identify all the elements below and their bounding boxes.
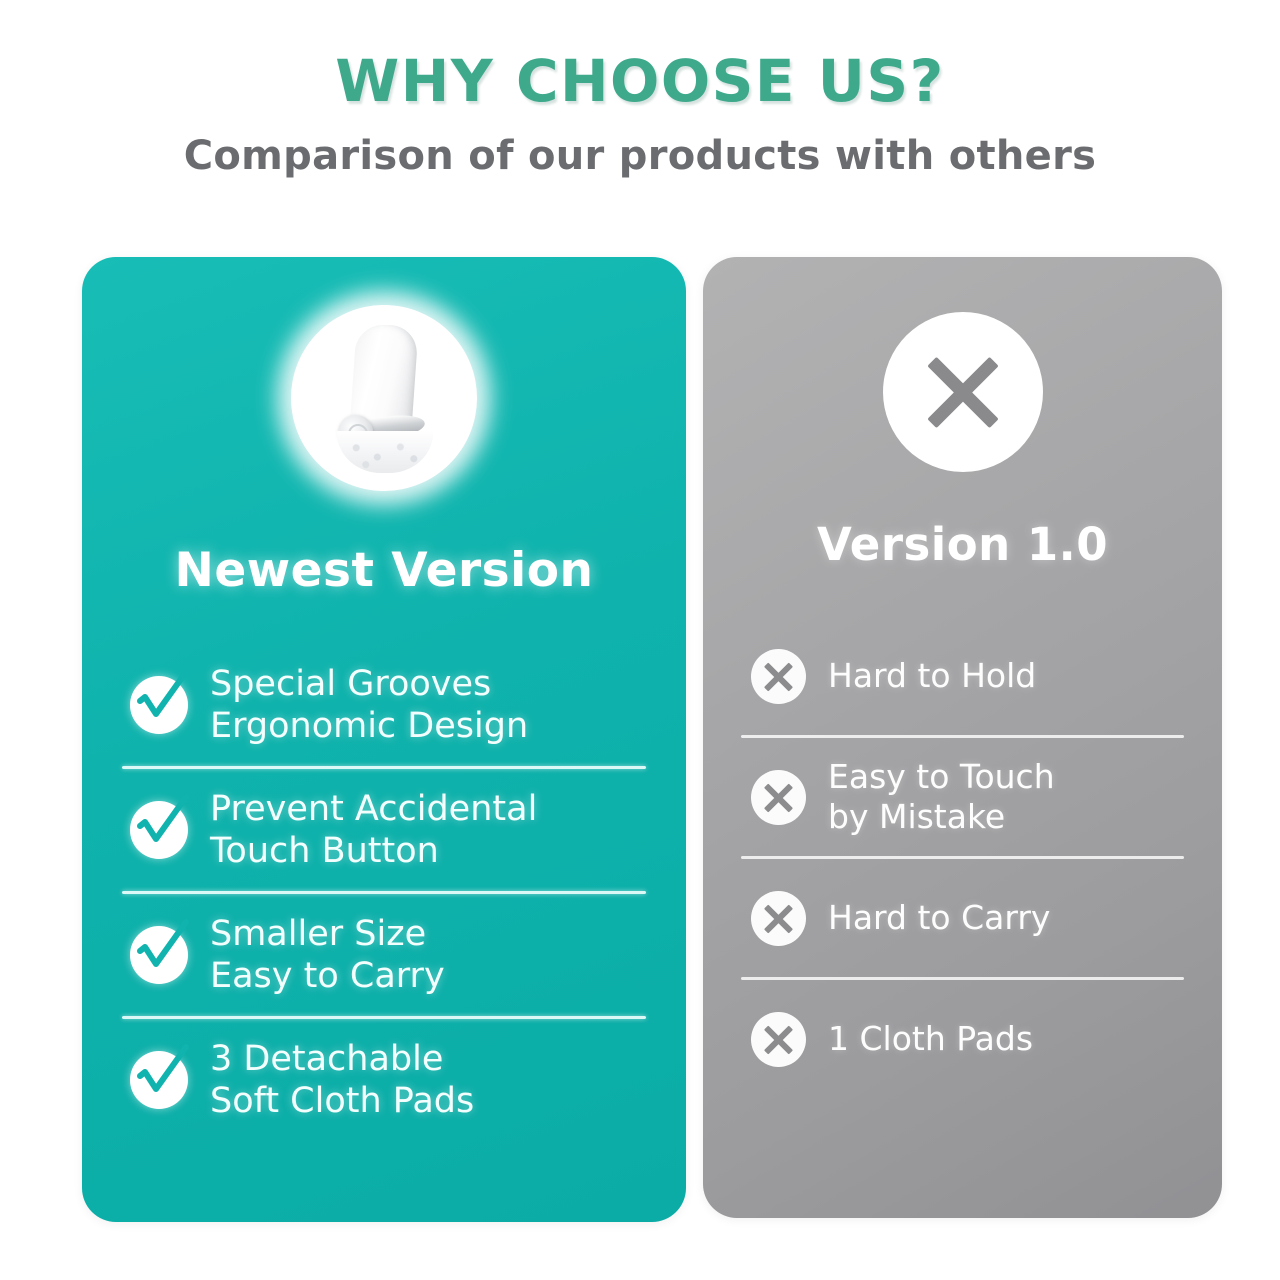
feature-text: Easy to Touch by Mistake — [828, 757, 1055, 836]
old-card-heading: Version 1.0 — [703, 522, 1222, 567]
feature-text: Hard to Hold — [828, 656, 1036, 696]
feature-text: Hard to Carry — [828, 898, 1050, 938]
feature-line-1: Hard to Carry — [828, 898, 1050, 937]
check-icon — [130, 926, 188, 984]
feature-line-2: Easy to Carry — [210, 955, 445, 997]
device-cloth-pad — [337, 431, 433, 473]
list-item: Easy to Touch by Mistake — [737, 738, 1188, 856]
page-title: WHY CHOOSE US? — [0, 52, 1280, 110]
feature-text: Special Grooves Ergonomic Design — [210, 663, 528, 747]
feature-line-1: Smaller Size — [210, 914, 426, 954]
list-item: Smaller Size Easy to Carry — [120, 894, 648, 1016]
header: WHY CHOOSE US? Comparison of our product… — [0, 0, 1280, 176]
feature-line-1: Hard to Hold — [828, 656, 1036, 695]
list-item: Hard to Carry — [737, 859, 1188, 977]
product-image-circle — [291, 305, 477, 491]
feature-text: 3 Detachable Soft Cloth Pads — [210, 1038, 474, 1122]
x-circle-icon — [883, 312, 1043, 472]
list-item: Special Grooves Ergonomic Design — [120, 644, 648, 766]
feature-text: Smaller Size Easy to Carry — [210, 913, 445, 997]
feature-line-2: by Mistake — [828, 797, 1055, 837]
check-icon — [130, 676, 188, 734]
x-icon — [751, 770, 806, 825]
check-icon — [130, 1051, 188, 1109]
feature-line-1: 3 Detachable — [210, 1039, 443, 1079]
comparison-infographic: WHY CHOOSE US? Comparison of our product… — [0, 0, 1280, 1280]
x-mark — [919, 348, 1007, 436]
x-icon — [751, 649, 806, 704]
comparison-cards: Newest Version Special Grooves Ergonomic… — [0, 257, 1280, 1237]
feature-line-1: Prevent Accidental — [210, 789, 537, 829]
list-item: Hard to Hold — [737, 617, 1188, 735]
check-icon — [130, 801, 188, 859]
x-icon — [751, 1012, 806, 1067]
product-device-photo — [329, 323, 439, 473]
x-icon — [751, 891, 806, 946]
old-card-media — [703, 257, 1222, 472]
new-card-heading: Newest Version — [82, 547, 686, 594]
new-card-media — [82, 257, 686, 491]
page-subtitle: Comparison of our products with others — [0, 136, 1280, 176]
old-card-feature-list: Hard to Hold Easy to Touch by Mistake — [703, 617, 1222, 1098]
list-item: 3 Detachable Soft Cloth Pads — [120, 1019, 648, 1141]
feature-text: 1 Cloth Pads — [828, 1019, 1033, 1059]
card-newest-version: Newest Version Special Grooves Ergonomic… — [82, 257, 686, 1222]
feature-line-1: Easy to Touch — [828, 757, 1055, 796]
card-version-1-0: Version 1.0 Hard to Hold — [703, 257, 1222, 1218]
feature-text: Prevent Accidental Touch Button — [210, 788, 537, 872]
list-item: 1 Cloth Pads — [737, 980, 1188, 1098]
feature-line-2: Ergonomic Design — [210, 705, 528, 747]
feature-line-2: Soft Cloth Pads — [210, 1080, 474, 1122]
feature-line-1: Special Grooves — [210, 664, 491, 704]
feature-line-1: 1 Cloth Pads — [828, 1019, 1033, 1058]
feature-line-2: Touch Button — [210, 830, 537, 872]
new-card-feature-list: Special Grooves Ergonomic Design Prevent… — [82, 644, 686, 1141]
list-item: Prevent Accidental Touch Button — [120, 769, 648, 891]
